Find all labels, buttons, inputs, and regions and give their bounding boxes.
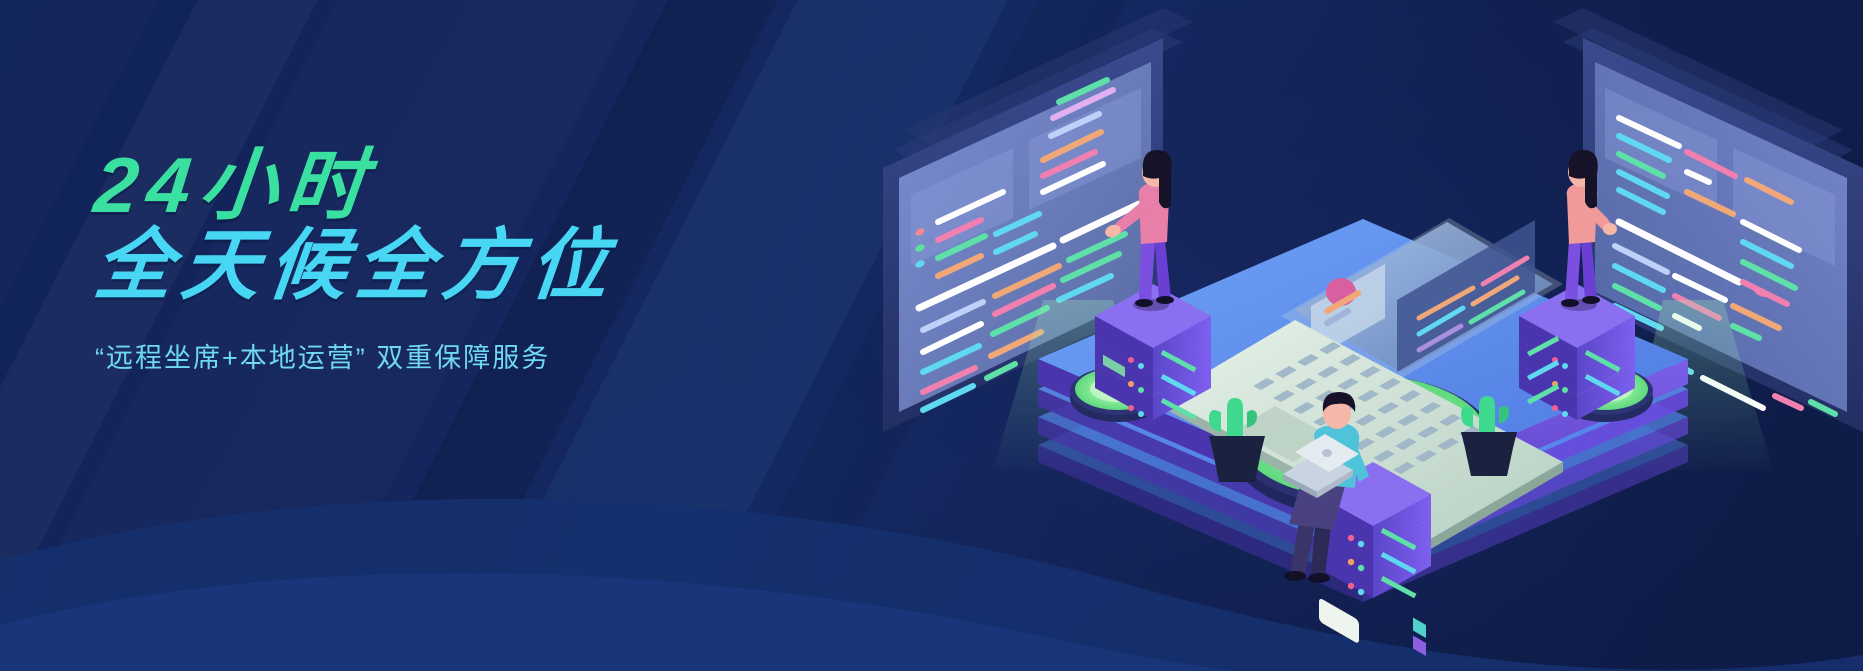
isometric-illustration [863, 0, 1863, 671]
hero-copy: 24小时 全天候全方位 “远程坐席+本地运营” 双重保障服务 [95, 148, 617, 375]
page-title-line-2: 全天候全方位 [91, 228, 621, 302]
page-title-line-1: 24小时 [91, 148, 621, 222]
hero-subtitle: “远程坐席+本地运营” 双重保障服务 [95, 336, 617, 375]
hero-banner: 24小时 全天候全方位 “远程坐席+本地运营” 双重保障服务 [0, 0, 1863, 671]
